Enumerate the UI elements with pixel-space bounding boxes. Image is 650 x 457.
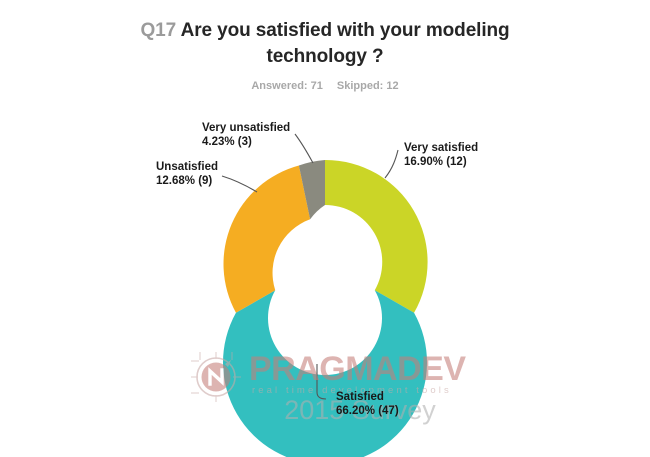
label-very-satisfied-name: Very satisfied xyxy=(404,142,478,154)
response-summary: Answered: 71Skipped: 12 xyxy=(95,80,555,92)
label-very-satisfied: Very satisfied 16.90% (12) xyxy=(404,141,478,169)
answered-count: Answered: 71 xyxy=(251,80,323,92)
question-number: Q17 xyxy=(140,20,176,41)
label-satisfied: Satisfied 66.20% (47) xyxy=(336,390,399,418)
donut-chart: PRAGMADEV real time development tools 20… xyxy=(0,100,650,457)
leader-line-very-satisfied xyxy=(385,150,398,178)
slice-very-satisfied[interactable] xyxy=(325,160,428,313)
label-very-unsatisfied: Very unsatisfied 4.23% (3) xyxy=(202,121,290,149)
page-title: Q17 Are you satisfied with your modeling… xyxy=(95,18,555,70)
label-unsatisfied-value: 12.68% (9) xyxy=(156,174,218,188)
label-unsatisfied-name: Unsatisfied xyxy=(156,161,218,173)
donut-chart-svg xyxy=(0,100,650,457)
label-very-unsatisfied-name: Very unsatisfied xyxy=(202,122,290,134)
label-unsatisfied: Unsatisfied 12.68% (9) xyxy=(156,160,218,188)
leader-line-very-unsatisfied xyxy=(295,134,313,163)
question-text: Are you satisfied with your modeling tec… xyxy=(181,20,510,67)
label-satisfied-value: 66.20% (47) xyxy=(336,404,399,418)
slice-satisfied[interactable] xyxy=(223,290,427,457)
label-satisfied-name: Satisfied xyxy=(336,391,384,403)
slice-unsatisfied[interactable] xyxy=(224,165,311,312)
leader-line-unsatisfied xyxy=(222,176,257,192)
survey-chart-card: Q17 Are you satisfied with your modeling… xyxy=(0,0,650,457)
label-very-satisfied-value: 16.90% (12) xyxy=(404,155,478,169)
skipped-count: Skipped: 12 xyxy=(337,80,399,92)
label-very-unsatisfied-value: 4.23% (3) xyxy=(202,135,290,149)
